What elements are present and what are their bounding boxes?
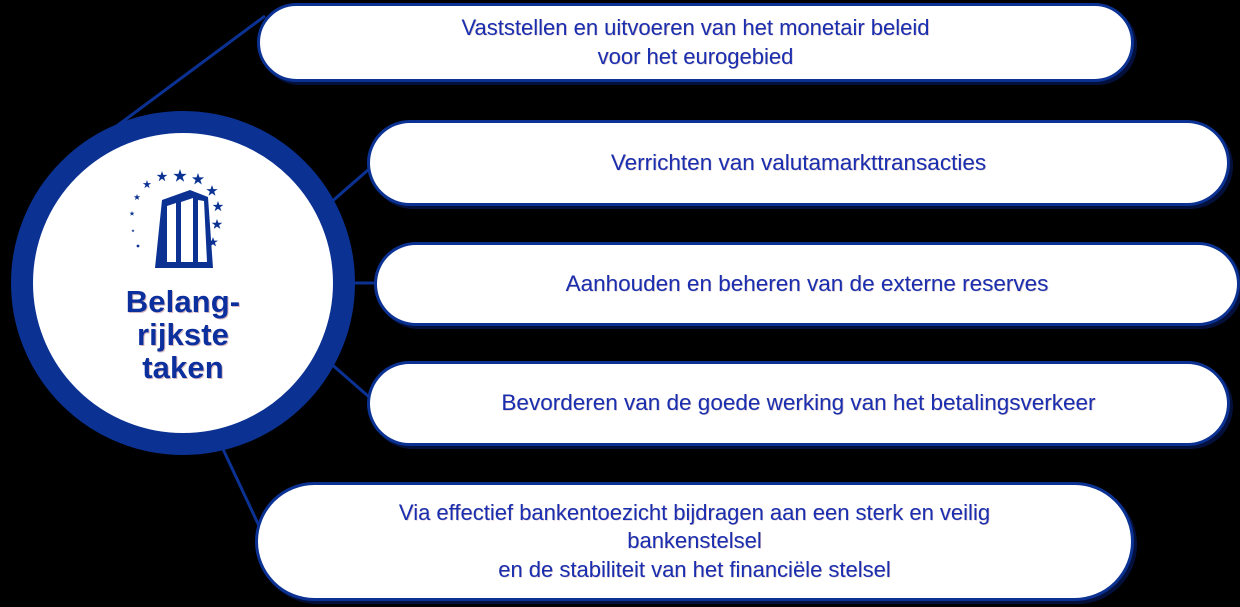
task-box-label: Bevorderen van de goede werking van het … xyxy=(467,389,1129,418)
central-hub: Belang- rijkste taken xyxy=(11,111,355,455)
task-box-betalingsverkeer[interactable]: Bevorderen van de goede werking van het … xyxy=(367,361,1230,446)
task-box-label: Verrichten van valutamarkttransacties xyxy=(577,149,1020,178)
hub-label: Belang- rijkste taken xyxy=(126,285,240,384)
diagram-canvas: Belang- rijkste taken Vaststellen en uit… xyxy=(0,0,1240,607)
ecb-tower-stars-logo xyxy=(124,167,242,283)
task-box-label: Via effectief bankentoezicht bijdragen a… xyxy=(365,499,1024,583)
task-box-bankentoezicht[interactable]: Via effectief bankentoezicht bijdragen a… xyxy=(255,482,1134,601)
task-box-valutamarkttransacties[interactable]: Verrichten van valutamarkttransacties xyxy=(367,120,1230,206)
task-box-externe-reserves[interactable]: Aanhouden en beheren van de externe rese… xyxy=(374,242,1240,326)
task-box-label: Aanhouden en beheren van de externe rese… xyxy=(532,270,1083,299)
task-box-monetair-beleid[interactable]: Vaststellen en uitvoeren van het monetai… xyxy=(257,3,1134,82)
task-box-label: Vaststellen en uitvoeren van het monetai… xyxy=(428,14,964,70)
